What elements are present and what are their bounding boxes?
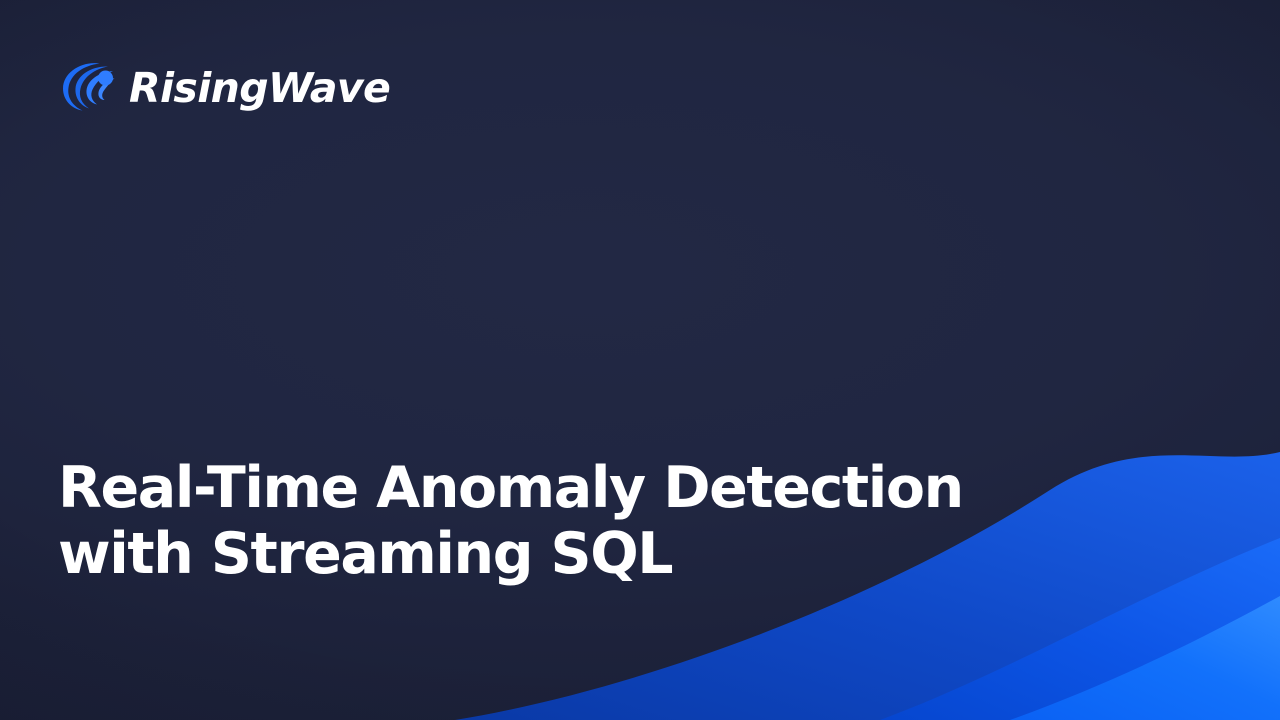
brand-logo: RisingWave [56,58,390,116]
page-title: Real-Time Anomaly Detection with Streami… [58,455,1058,587]
page-title-line-2: with Streaming SQL [58,521,1058,587]
page-title-line-1: Real-Time Anomaly Detection [58,455,1058,521]
risingwave-wave-logo-icon [56,58,116,116]
brand-wordmark: RisingWave [129,68,390,109]
slide-canvas: RisingWave Real-Time Anomaly Detection w… [0,0,1280,720]
